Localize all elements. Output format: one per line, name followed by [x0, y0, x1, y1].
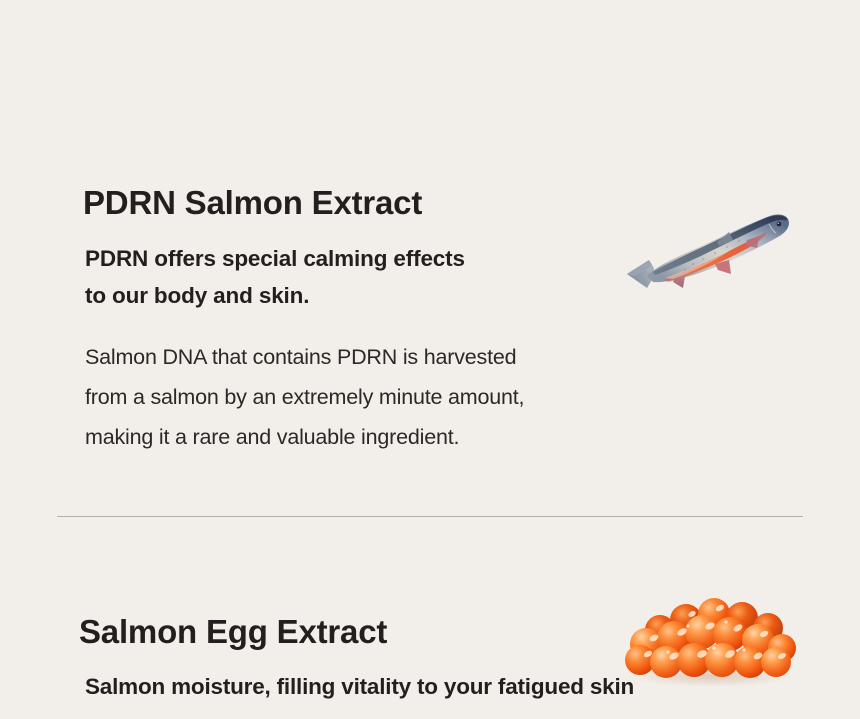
- body-line: Salmon DNA that contains PDRN is harvest…: [85, 337, 524, 377]
- section-pdrn-salmon-extract: PDRN Salmon Extract PDRN offers special …: [0, 0, 860, 517]
- ingredient-info-page: PDRN Salmon Extract PDRN offers special …: [0, 0, 860, 719]
- body-paragraph-pdrn: Salmon DNA that contains PDRN is harvest…: [85, 337, 524, 457]
- body-line: from a salmon by an extremely minute amo…: [85, 377, 524, 417]
- page-title-pdrn-salmon-extract: PDRN Salmon Extract: [83, 185, 422, 222]
- subheading-pdrn: PDRN offers special calming effects to o…: [85, 240, 465, 314]
- subheading-line: to our body and skin.: [85, 277, 465, 314]
- body-line: making it a rare and valuable ingredient…: [85, 417, 524, 457]
- page-title-salmon-egg-extract: Salmon Egg Extract: [79, 613, 387, 651]
- salmon-roe-graphic: [616, 582, 808, 690]
- section-salmon-egg-extract: Salmon Egg Extract Salmon moisture, fill…: [0, 517, 860, 719]
- subheading-salmon-egg: Salmon moisture, filling vitality to you…: [85, 670, 634, 704]
- salmon-roe-image: [616, 582, 808, 690]
- salmon-fish-graphic: [623, 202, 795, 294]
- salmon-fish-image: [623, 202, 795, 294]
- subheading-line: PDRN offers special calming effects: [85, 240, 465, 277]
